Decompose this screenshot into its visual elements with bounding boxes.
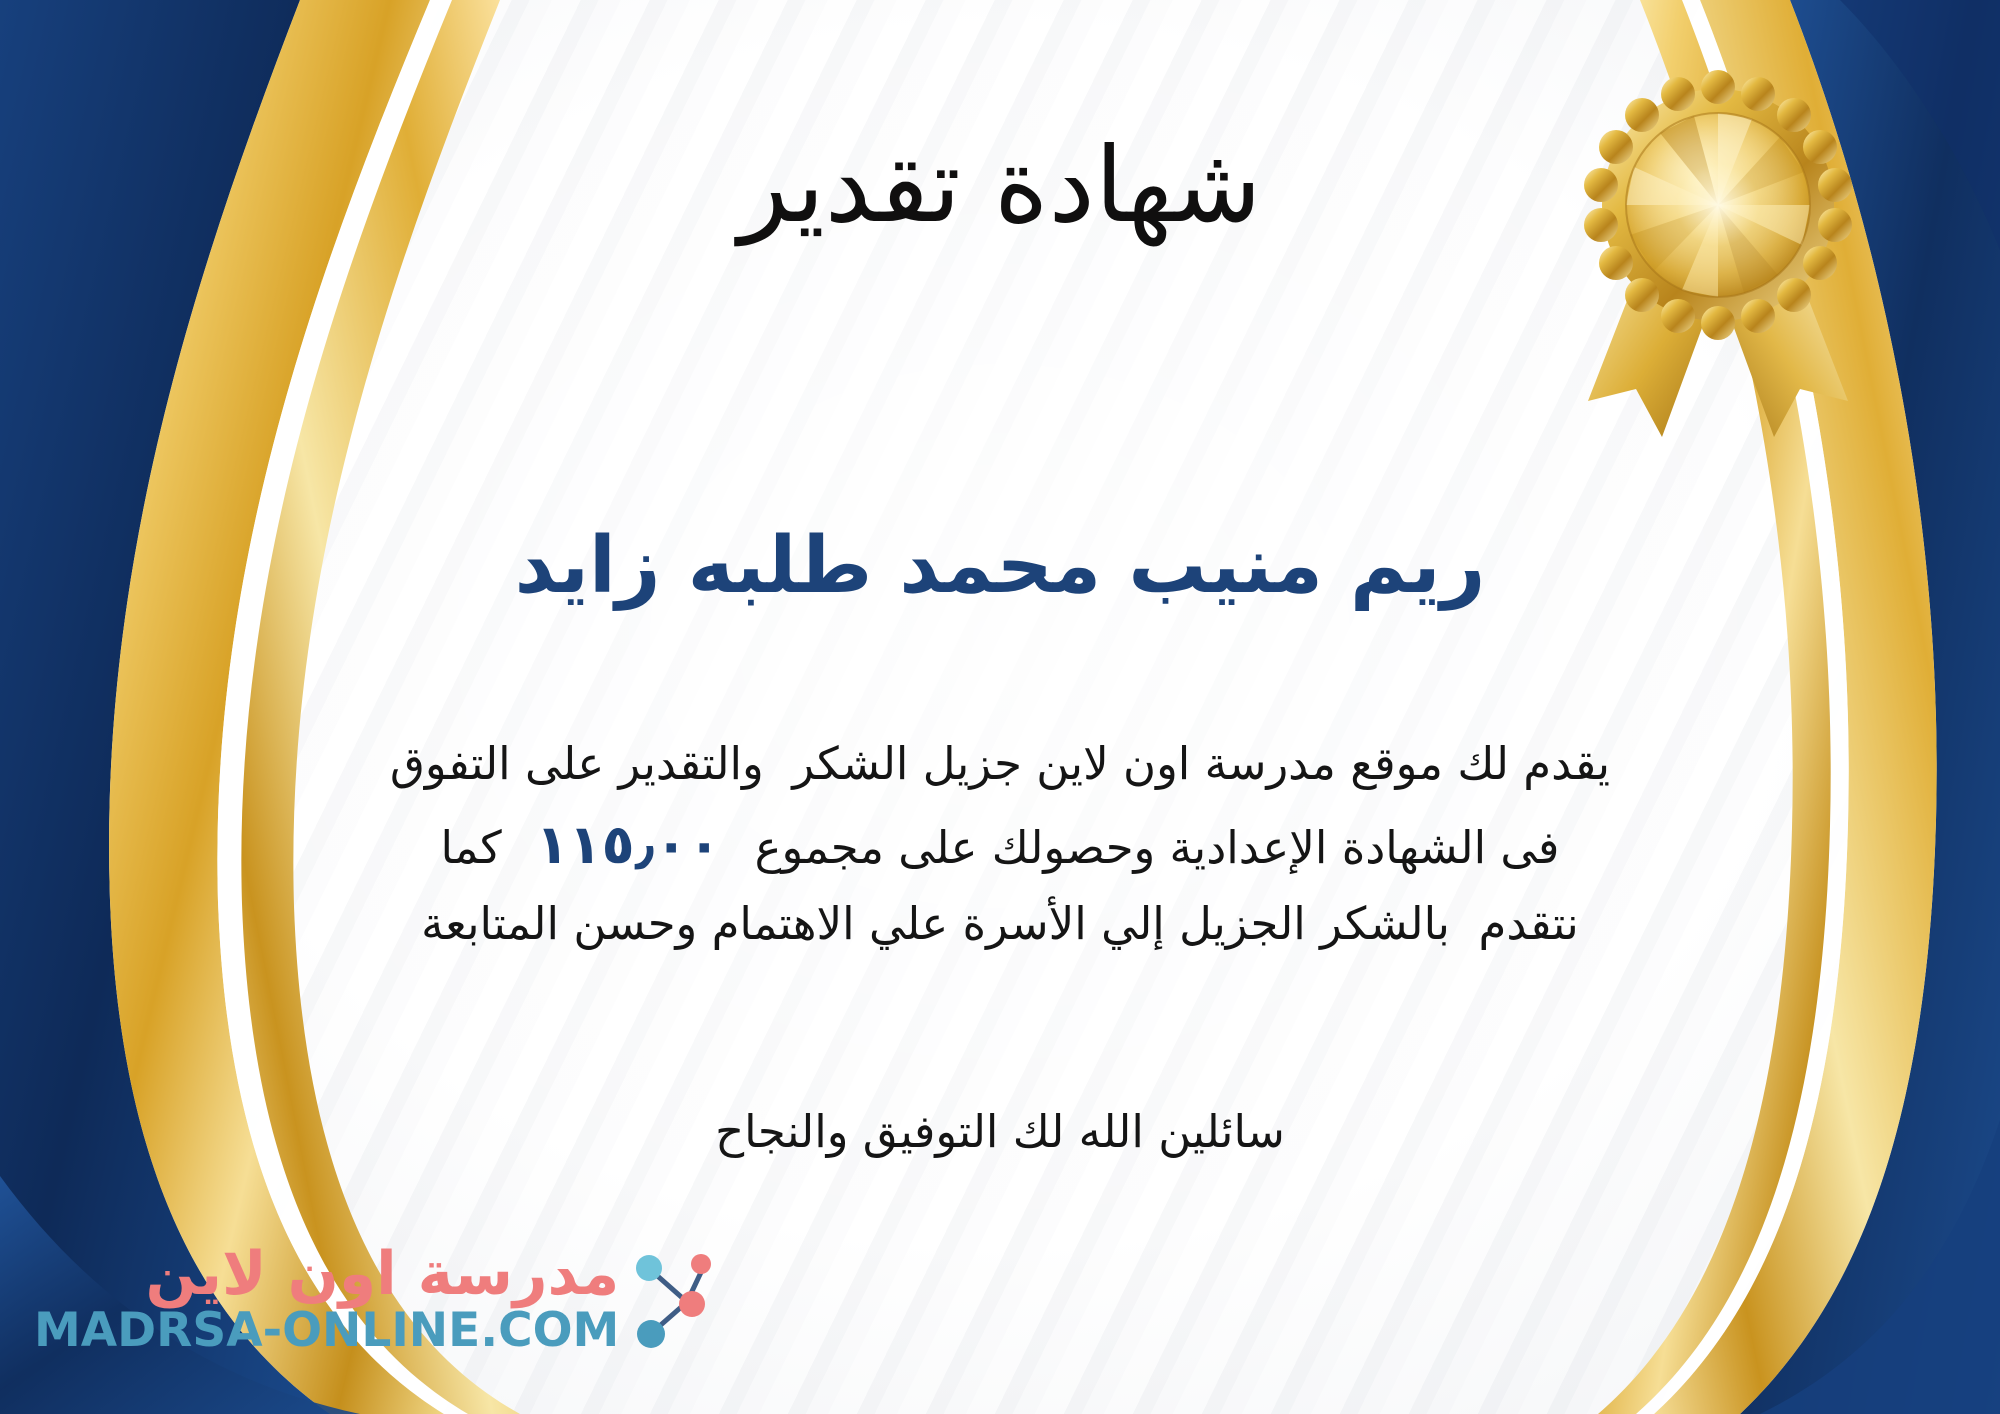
certificate-body: يقدم لك موقع مدرسة اون لاين جزيل الشكر و…	[60, 728, 1940, 961]
logo-website-url: MADRSA-ONLINE.COM	[34, 1306, 619, 1355]
logo-arabic-name: مدرسة اون لاين	[34, 1243, 619, 1306]
network-nodes-icon	[629, 1246, 715, 1354]
grade-value: ١١٥٫٠٠	[502, 813, 755, 876]
site-logo[interactable]: مدرسة اون لاين MADRSA-ONLINE.COM	[34, 1217, 504, 1382]
body-line-3: نتقدم بالشكر الجزيل إلي الأسرة علي الاهت…	[60, 888, 1940, 961]
body-line-2-after: كما	[441, 821, 502, 874]
body-line-2-before: فى الشهادة الإعدادية وحصولك على مجموع	[755, 821, 1560, 874]
recipient-name: ريم منيب محمد طلبه زايد	[0, 520, 2000, 612]
certificate-canvas: شهادة تقدير ريم منيب محمد طلبه زايد يقدم…	[0, 0, 2000, 1414]
body-line-1: يقدم لك موقع مدرسة اون لاين جزيل الشكر و…	[60, 728, 1940, 801]
certificate-title: شهادة تقدير	[0, 128, 2000, 242]
body-line-2: فى الشهادة الإعدادية وحصولك على مجموع١١٥…	[60, 801, 1940, 888]
closing-line: سائلين الله لك التوفيق والنجاح	[0, 1105, 2000, 1158]
logo-text-group: مدرسة اون لاين MADRSA-ONLINE.COM	[34, 1243, 619, 1355]
